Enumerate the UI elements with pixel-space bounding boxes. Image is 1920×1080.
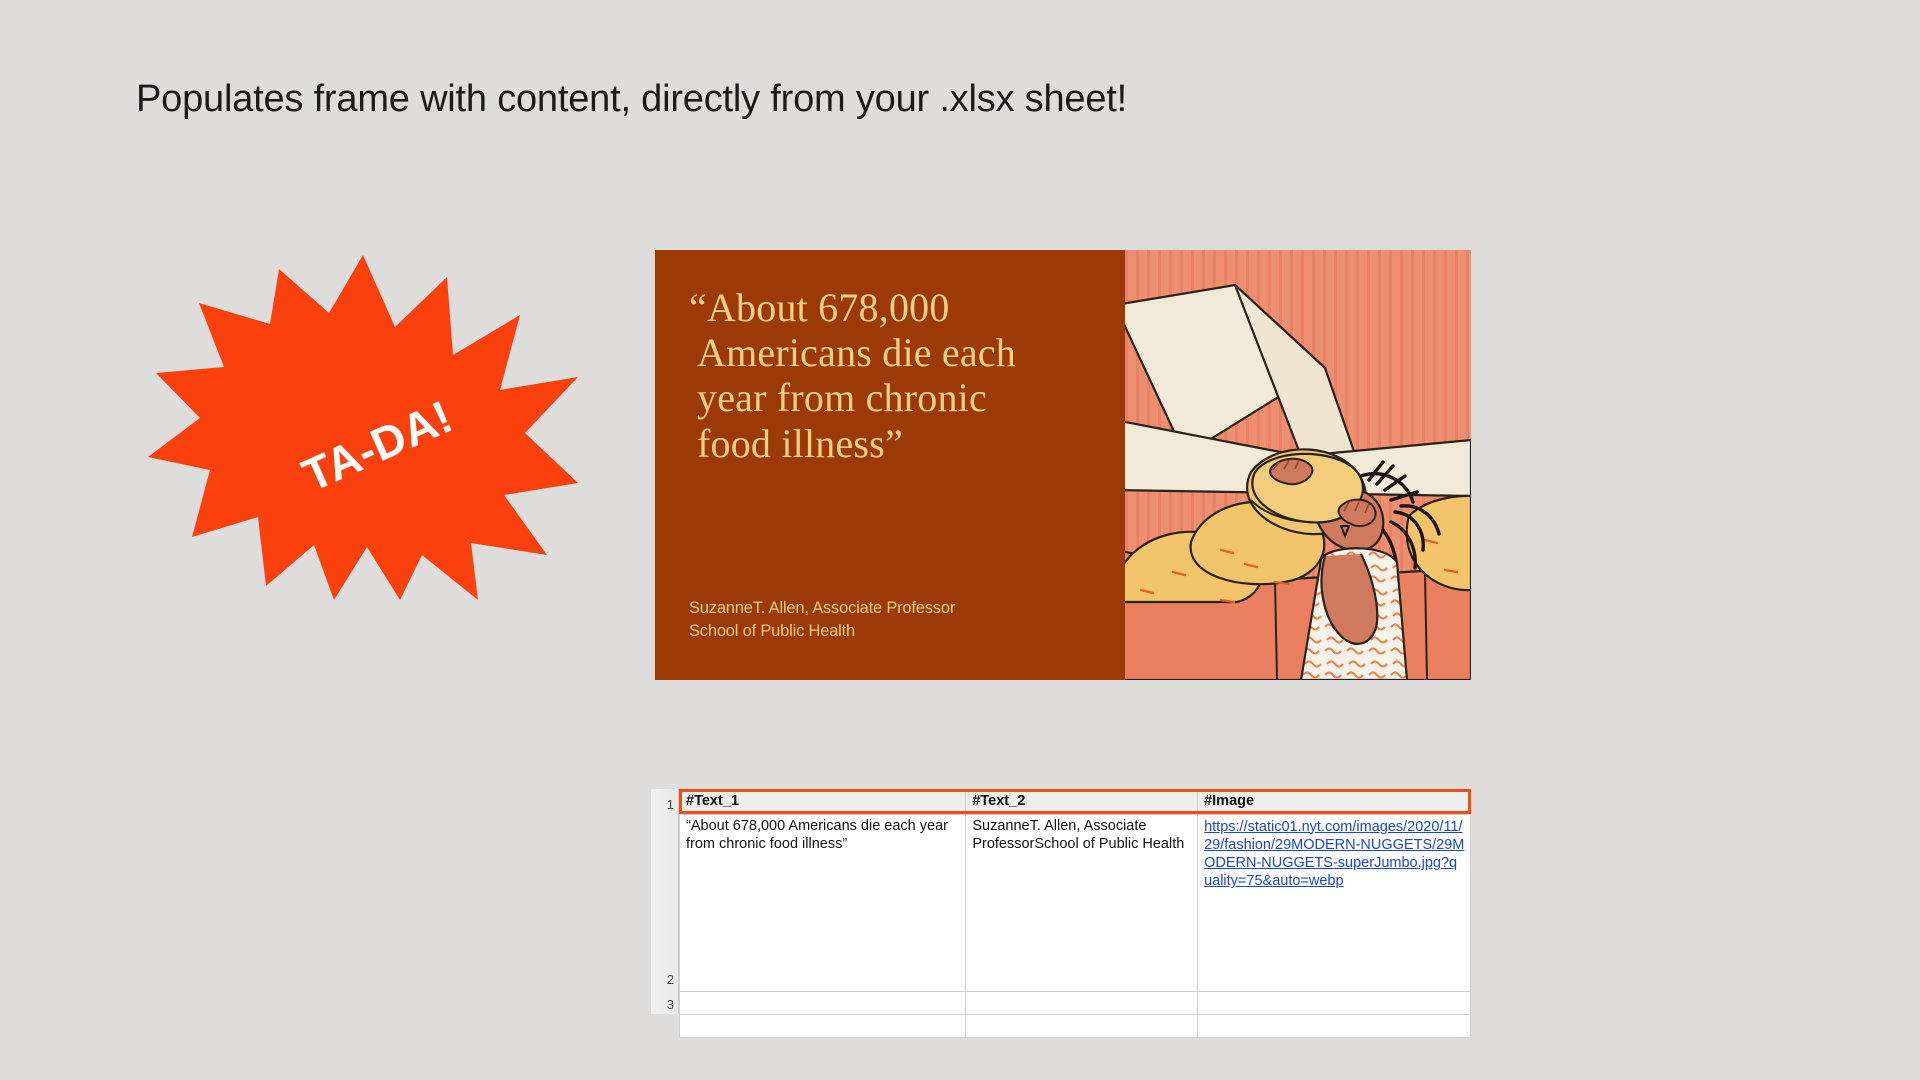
- cell-empty-r2-c1[interactable]: [680, 991, 966, 1014]
- image-url-link[interactable]: https://static01.nyt.com/images/2020/11/…: [1204, 818, 1465, 891]
- row-number-3[interactable]: 3: [667, 998, 674, 1011]
- quote-line-3: year from chronic: [689, 375, 1099, 420]
- cell-empty-r2-c3[interactable]: [1198, 991, 1471, 1014]
- page-title: Populates frame with content, directly f…: [136, 78, 1127, 121]
- cell-image-url[interactable]: https://static01.nyt.com/images/2020/11/…: [1198, 814, 1471, 991]
- slide-quote: “About 678,000 Americans die each year f…: [689, 285, 1099, 466]
- header-cell-text-1[interactable]: #Text_1: [680, 790, 966, 815]
- quote-line-1: “About 678,000: [689, 285, 1099, 330]
- cell-empty-r3-c3[interactable]: [1198, 1014, 1471, 1037]
- header-cell-image[interactable]: #Image: [1198, 790, 1471, 815]
- table-row: [680, 1014, 1471, 1037]
- table-row: [680, 991, 1471, 1014]
- row-number-2[interactable]: 2: [667, 973, 674, 986]
- row-number-1[interactable]: 1: [667, 798, 674, 811]
- slide-preview-card[interactable]: “About 678,000 Americans die each year f…: [655, 250, 1471, 680]
- cell-empty-r2-c2[interactable]: [966, 991, 1198, 1014]
- slide-attribution: SuzanneT. Allen, Associate Professor Sch…: [689, 597, 1109, 642]
- quote-line-4: food illness”: [689, 421, 1099, 466]
- illustration-artwork: [1125, 250, 1471, 680]
- ta-da-starburst-badge: TA-DA!: [148, 255, 578, 600]
- table-row: “About 678,000 Americans die each year f…: [680, 814, 1471, 991]
- slide-text-panel: “About 678,000 Americans die each year f…: [655, 250, 1125, 680]
- cell-text-2[interactable]: SuzanneT. Allen, Associate ProfessorScho…: [966, 814, 1198, 991]
- table-header-row: #Text_1 #Text_2 #Image: [680, 790, 1471, 815]
- cell-text-2-value: SuzanneT. Allen, Associate ProfessorScho…: [972, 818, 1192, 854]
- cell-empty-r3-c2[interactable]: [966, 1014, 1198, 1037]
- cell-text-1-value: “About 678,000 Americans die each year f…: [686, 818, 960, 854]
- header-cell-text-2[interactable]: #Text_2: [966, 790, 1198, 815]
- sheet-table: #Text_1 #Text_2 #Image “About 678,000 Am…: [679, 789, 1471, 1038]
- attribution-line-1: SuzanneT. Allen, Associate Professor: [689, 597, 1109, 619]
- row-header-gutter: 1 2 3: [651, 789, 679, 1014]
- starburst-shape-icon: [148, 255, 578, 600]
- chicken-nuggets-illustration: [1125, 250, 1471, 680]
- attribution-line-2: School of Public Health: [689, 620, 1109, 642]
- quote-line-2: Americans die each: [689, 330, 1099, 375]
- cell-text-1[interactable]: “About 678,000 Americans die each year f…: [680, 814, 966, 991]
- xlsx-sheet-preview[interactable]: 1 2 3 #Text_1 #Text_2 #Image “About 678,…: [651, 789, 1471, 1014]
- sheet-grid[interactable]: #Text_1 #Text_2 #Image “About 678,000 Am…: [679, 789, 1471, 1014]
- cell-empty-r3-c1[interactable]: [680, 1014, 966, 1037]
